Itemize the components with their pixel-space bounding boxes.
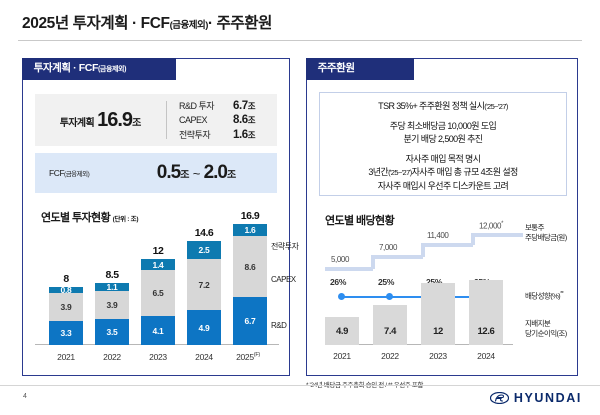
bar-seg-capex-2023: 6.5 xyxy=(141,270,175,316)
dividend-chart: 5,000 7,000 11,400 12,000* 26% 25% 25% 2… xyxy=(317,227,569,367)
investment-panel-tab: 투자계획 · FCF(금융제외) xyxy=(22,58,176,81)
breakdown-label-strategic: 전략투자 xyxy=(179,128,233,141)
investment-bar-chart: 8 0.8 3.9 3.3 2021 8.5 1.1 3.9 3.5 2022 … xyxy=(35,227,279,367)
fcf-from: 0.5 xyxy=(157,162,180,183)
page-title: 2025년 투자계획 · FCF(금융제외)· 주주환원 xyxy=(22,11,272,33)
bar-seg-capex-2021: 3.9 xyxy=(49,293,83,321)
step-seg-2024 xyxy=(471,233,523,237)
bar-total-2023: 12 xyxy=(133,245,183,257)
investment-breakdown-row: 전략투자1.6조 xyxy=(179,128,277,141)
step-seg-2023 xyxy=(421,243,473,247)
x-label-2025: 2025(F) xyxy=(223,352,273,362)
investment-breakdown-row: R&D 투자6.7조 xyxy=(179,99,277,112)
policy-tsr-period: ('25~'27) xyxy=(484,102,508,111)
page-title-tail: · 주주환원 xyxy=(208,15,272,32)
profit-bar-2022: 7.4 xyxy=(373,305,407,345)
fcf-label: FCF(금융제외) xyxy=(35,168,131,178)
bar-seg-capex-2024: 7.2 xyxy=(187,259,221,310)
step-value-2022: 7,000 xyxy=(379,243,397,252)
policy-buyback-purpose: 자사주 매입 목적 명시 xyxy=(326,153,560,167)
series-label-dps-unit: (원) xyxy=(557,233,567,242)
breakdown-value-strategic: 1.6 xyxy=(233,129,248,141)
bar-seg-rd-2021: 3.3 xyxy=(49,321,83,345)
breakdown-unit-capex: 조 xyxy=(248,114,256,126)
policy-item-dividend: 주당 최소배당금 10,000원 도입 분기 배당 2,500원 추진 xyxy=(326,120,560,147)
step-value-2024-note: * xyxy=(501,221,503,227)
series-label-dps: 보통주 주당배당금(원) xyxy=(525,223,567,243)
breakdown-value-capex: 8.6 xyxy=(233,114,248,126)
policy-buyback-scale: 3년간('25~'27)자사주 매입 총 규모 4조원 설정 xyxy=(326,166,560,180)
series-label-payout-unit: (%) xyxy=(550,292,560,301)
div-x-label-2022: 2022 xyxy=(365,351,415,361)
series-label-payout: 배당성향(%)** xyxy=(525,291,563,302)
bar-seg-strategic-2024: 2.5 xyxy=(187,241,221,259)
bar-group-2024: 14.6 2.5 7.2 4.9 xyxy=(187,241,221,345)
bar-seg-capex-2022: 3.9 xyxy=(95,291,129,319)
step-seg-2022 xyxy=(371,255,423,259)
step-value-2023: 11,400 xyxy=(427,231,448,240)
policy-item-buyback: 자사주 매입 목적 명시 3년간('25~'27)자사주 매입 총 규모 4조원… xyxy=(326,153,560,194)
dividend-chart-title-text: 연도별 배당현황 xyxy=(325,215,394,227)
payout-value-2022: 25% xyxy=(378,277,394,287)
bar-group-2022: 8.5 1.1 3.9 3.5 xyxy=(95,283,129,345)
policy-tsr-text: TSR 35%+ 주주환원 정책 실시 xyxy=(378,101,484,111)
step-value-2024-text: 12,000 xyxy=(479,222,501,231)
breakdown-unit-rd: 조 xyxy=(248,100,256,112)
fcf-label-sub: (금융제외) xyxy=(64,171,89,178)
dividend-chart-title: 연도별 배당현황 xyxy=(325,212,394,228)
footer-divider xyxy=(0,385,600,386)
x-label-2021: 2021 xyxy=(41,352,91,362)
series-label-dps-line2: 주당배당금(원) xyxy=(525,233,567,243)
policy-buyback-preferred: 자사주 매입시 우선주 디스카운트 고려 xyxy=(326,180,560,194)
chart-footnote: * '24년 배당금 주주총회 승인 전 / ** 우선주 포함 xyxy=(306,379,423,389)
series-label-profit-unit: (조) xyxy=(557,329,567,338)
investment-total-label: 투자계획 xyxy=(60,118,94,129)
shareholder-policy-box: TSR 35%+ 주주환원 정책 실시('25~'27) 주당 최소배당금 10… xyxy=(319,92,567,196)
payout-dot-2022 xyxy=(386,293,393,300)
bar-group-2021: 8 0.8 3.9 3.3 xyxy=(49,287,83,345)
bar-seg-rd-2023: 4.1 xyxy=(141,316,175,345)
bar-total-2025: 16.9 xyxy=(225,210,275,222)
profit-value-2024: 12.6 xyxy=(478,326,495,337)
fcf-summary-box: FCF(금융제외) 0.5조 ~ 2.0조 xyxy=(35,153,277,193)
series-label-profit-line2: 당기순이익(조) xyxy=(525,329,567,339)
div-x-label-2023: 2023 xyxy=(413,351,463,361)
payout-value-2021: 26% xyxy=(330,277,346,287)
breakdown-value-rd: 6.7 xyxy=(233,100,248,112)
hyundai-h-ellipse-logo-icon xyxy=(490,392,509,404)
div-x-label-2024: 2024 xyxy=(461,351,511,361)
bar-total-2022: 8.5 xyxy=(87,269,137,281)
fcf-from-unit: 조 xyxy=(180,170,188,181)
fcf-to: 2.0 xyxy=(204,162,227,183)
investment-total: 투자계획16.9조 xyxy=(35,109,166,132)
page-number: 4 xyxy=(23,393,27,400)
brand-wordmark: HYUNDAI xyxy=(514,391,582,405)
series-label-payout-text: 배당성향 xyxy=(525,292,550,301)
page-title-sub: (금융제외) xyxy=(170,20,208,31)
policy-quarterly-dps: 분기 배당 2,500원 추진 xyxy=(326,133,560,147)
x-label-2025-text: 2025 xyxy=(236,352,254,362)
step-value-2024: 12,000* xyxy=(479,221,503,231)
policy-buyback-pre: 3년간 xyxy=(368,167,388,177)
header-divider xyxy=(18,40,582,41)
fcf-tilde: ~ xyxy=(193,166,200,181)
div-x-label-2021: 2021 xyxy=(317,351,367,361)
breakdown-label-capex: CAPEX xyxy=(179,115,233,125)
breakdown-label-rd: R&D 투자 xyxy=(179,99,233,112)
bar-total-2024: 14.6 xyxy=(179,227,229,239)
investment-total-unit: 조 xyxy=(132,118,141,129)
bar-seg-strategic-2023: 1.4 xyxy=(141,259,175,270)
fcf-to-unit: 조 xyxy=(227,170,235,181)
brand-logo: HYUNDAI xyxy=(490,391,582,405)
policy-buyback-period: ('25~'27) xyxy=(388,168,412,177)
bar-seg-rd-2024: 4.9 xyxy=(187,310,221,345)
fcf-label-main: FCF xyxy=(49,168,64,178)
series-label-profit: 지배지분 당기순이익(조) xyxy=(525,319,567,339)
profit-value-2023: 12 xyxy=(433,326,443,337)
bar-seg-rd-2022: 3.5 xyxy=(95,319,129,345)
bar-seg-rd-2025: 6.7 xyxy=(233,297,267,345)
series-label-dps-line2-text: 주당배당금 xyxy=(525,233,557,242)
series-label-profit-line2-text: 당기순이익 xyxy=(525,329,557,338)
bar-total-2021: 8 xyxy=(41,273,91,285)
investment-summary-box: 투자계획16.9조 R&D 투자6.7조 CAPEX8.6조 전략투자1.6조 xyxy=(35,94,277,146)
series-label-capex: CAPEX xyxy=(271,275,296,284)
x-label-2023: 2023 xyxy=(133,352,183,362)
page-title-main: 2025년 투자계획 · FCF xyxy=(22,15,170,32)
bar-group-2025: 16.9 1.6 8.6 6.7 xyxy=(233,224,267,345)
fcf-range-value: 0.5조 ~ 2.0조 xyxy=(131,162,277,184)
shareholder-return-panel: 주주환원 TSR 35%+ 주주환원 정책 실시('25~'27) 주당 최소배… xyxy=(306,58,578,376)
bar-group-2023: 12 1.4 6.5 4.1 xyxy=(141,259,175,345)
step-value-2021: 5,000 xyxy=(331,255,349,264)
investment-panel: 투자계획 · FCF(금융제외) 투자계획16.9조 R&D 투자6.7조 CA… xyxy=(22,58,290,376)
shareholder-return-tab-label: 주주환원 xyxy=(318,62,355,74)
shareholder-return-panel-tab: 주주환원 xyxy=(306,58,414,81)
policy-item-tsr: TSR 35%+ 주주환원 정책 실시('25~'27) xyxy=(326,100,560,114)
profit-value-2021: 4.9 xyxy=(336,326,348,337)
investment-chart-title-text: 연도별 투자현황 xyxy=(41,212,110,224)
x-label-2024: 2024 xyxy=(179,352,229,362)
investment-panel-tab-sub: (금융제외) xyxy=(98,66,126,73)
policy-min-dps: 주당 최소배당금 10,000원 도입 xyxy=(326,120,560,134)
series-label-payout-sup: ** xyxy=(560,291,563,297)
breakdown-unit-strategic: 조 xyxy=(248,129,256,141)
profit-bar-2023: 12 xyxy=(421,283,455,345)
payout-dot-2021 xyxy=(338,293,345,300)
investment-breakdown-list: R&D 투자6.7조 CAPEX8.6조 전략투자1.6조 xyxy=(167,99,277,141)
x-label-2022: 2022 xyxy=(87,352,137,362)
profit-bar-2024: 12.6 xyxy=(469,280,503,345)
series-label-dps-line1: 보통주 xyxy=(525,223,567,233)
step-seg-2021 xyxy=(325,267,373,271)
investment-total-value: 16.9 xyxy=(97,109,132,131)
bar-seg-strategic-2022: 1.1 xyxy=(95,283,129,291)
profit-value-2022: 7.4 xyxy=(384,326,396,337)
investment-chart-unit: (단위 : 조) xyxy=(113,216,139,223)
profit-bar-2021: 4.9 xyxy=(325,317,359,345)
x-label-2025-note: (F) xyxy=(254,352,260,358)
investment-chart-title: 연도별 투자현황 (단위 : 조) xyxy=(41,209,138,225)
series-label-rd: R&D xyxy=(271,321,286,330)
bar-seg-strategic-2025: 1.6 xyxy=(233,224,267,236)
bar-seg-capex-2025: 8.6 xyxy=(233,236,267,297)
series-label-strategic: 전략투자 xyxy=(271,241,298,252)
series-label-profit-line1: 지배지분 xyxy=(525,319,567,329)
investment-breakdown-row: CAPEX8.6조 xyxy=(179,114,277,126)
investment-panel-tab-label: 투자계획 · FCF xyxy=(34,62,98,74)
policy-buyback-post: 자사주 매입 총 규모 4조원 설정 xyxy=(412,167,518,177)
